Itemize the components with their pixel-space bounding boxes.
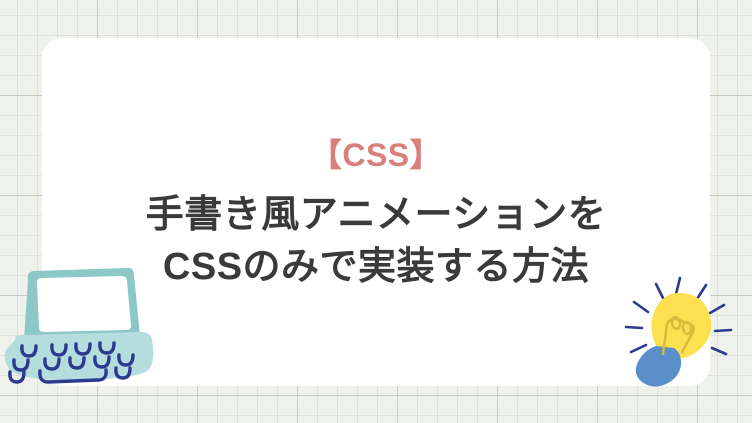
lightbulb-icon	[618, 272, 742, 394]
laptop-icon	[0, 266, 162, 386]
eyecatch-canvas: 【CSS】 手書き風アニメーションを CSSのみで実装する方法	[0, 0, 752, 423]
